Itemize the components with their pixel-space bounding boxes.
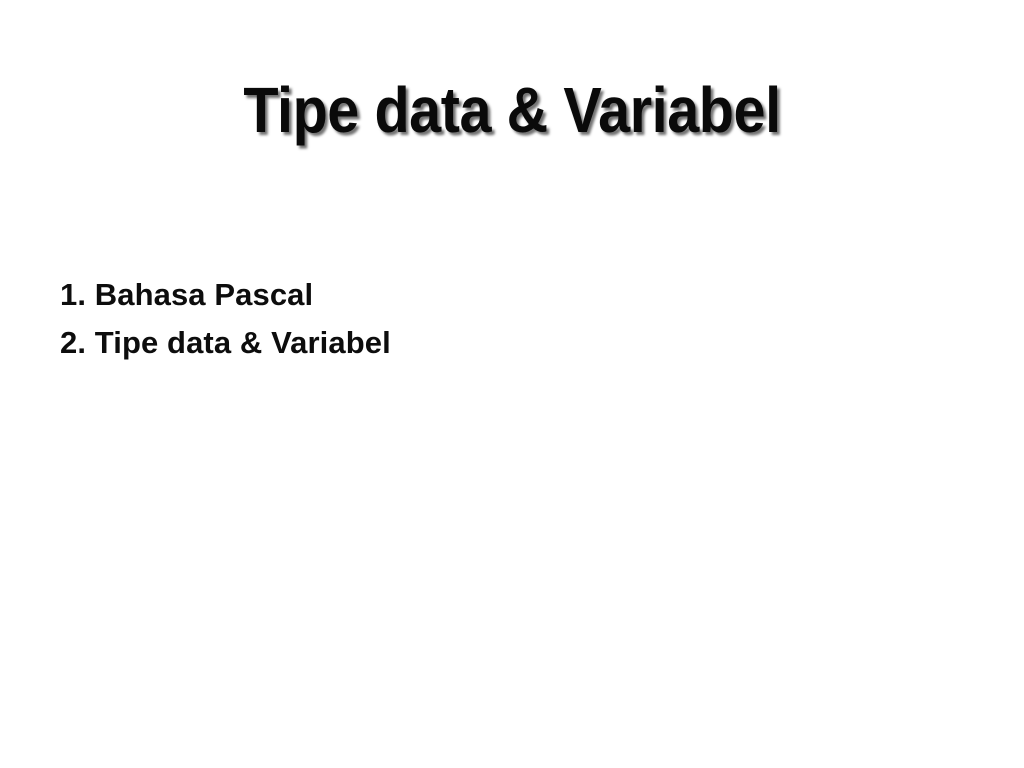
list-item: 2. Tipe data & Variabel [60, 319, 940, 367]
outline-list: 1. Bahasa Pascal 2. Tipe data & Variabel [60, 271, 940, 367]
page-title: Tipe data & Variabel [51, 78, 973, 143]
list-item: 1. Bahasa Pascal [60, 271, 940, 319]
empty-content-area [0, 380, 1024, 768]
slide-canvas: Tipe data & Variabel 1. Bahasa Pascal 2.… [0, 0, 1024, 768]
